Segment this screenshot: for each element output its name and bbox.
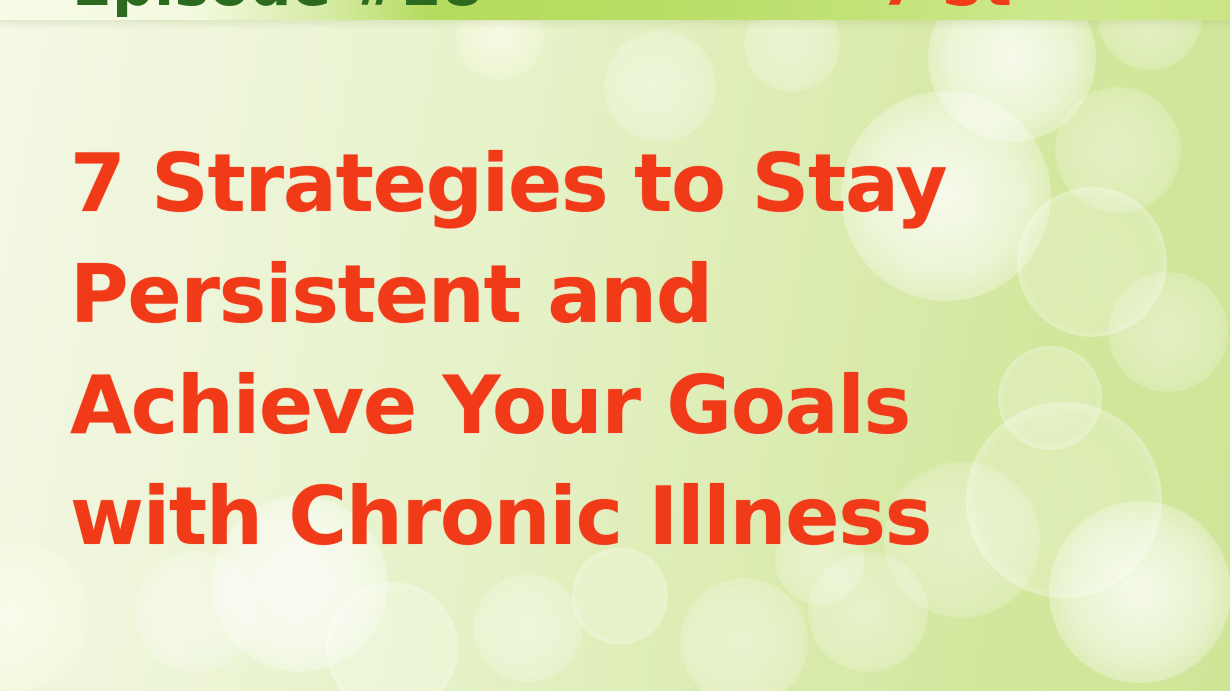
episode-ribbon: Episode #28 7 St — [0, 0, 1230, 20]
podcast-title-slide: Episode #28 7 St 7 Strategies to StayPer… — [0, 0, 1230, 691]
bokeh-circle-17 — [680, 578, 808, 691]
page-title: 7 Strategies to StayPersistent andAchiev… — [70, 128, 1090, 572]
bokeh-circle-15 — [474, 574, 582, 682]
bokeh-circle-19 — [604, 30, 716, 142]
page-title-line-1: 7 Strategies to Stay — [70, 128, 1090, 239]
bokeh-circle-5 — [1108, 272, 1228, 392]
page-title-line-2: Persistent and — [70, 239, 1090, 350]
episode-number-label: Episode #28 — [72, 0, 483, 14]
ribbon-drop-shadow — [0, 20, 1230, 29]
page-title-line-3: Achieve Your Goals — [70, 350, 1090, 461]
page-title-line-4: with Chronic Illness — [70, 461, 1090, 572]
ribbon-accent-fragment: 7 St — [880, 0, 1012, 14]
bokeh-circle-14 — [326, 582, 458, 691]
